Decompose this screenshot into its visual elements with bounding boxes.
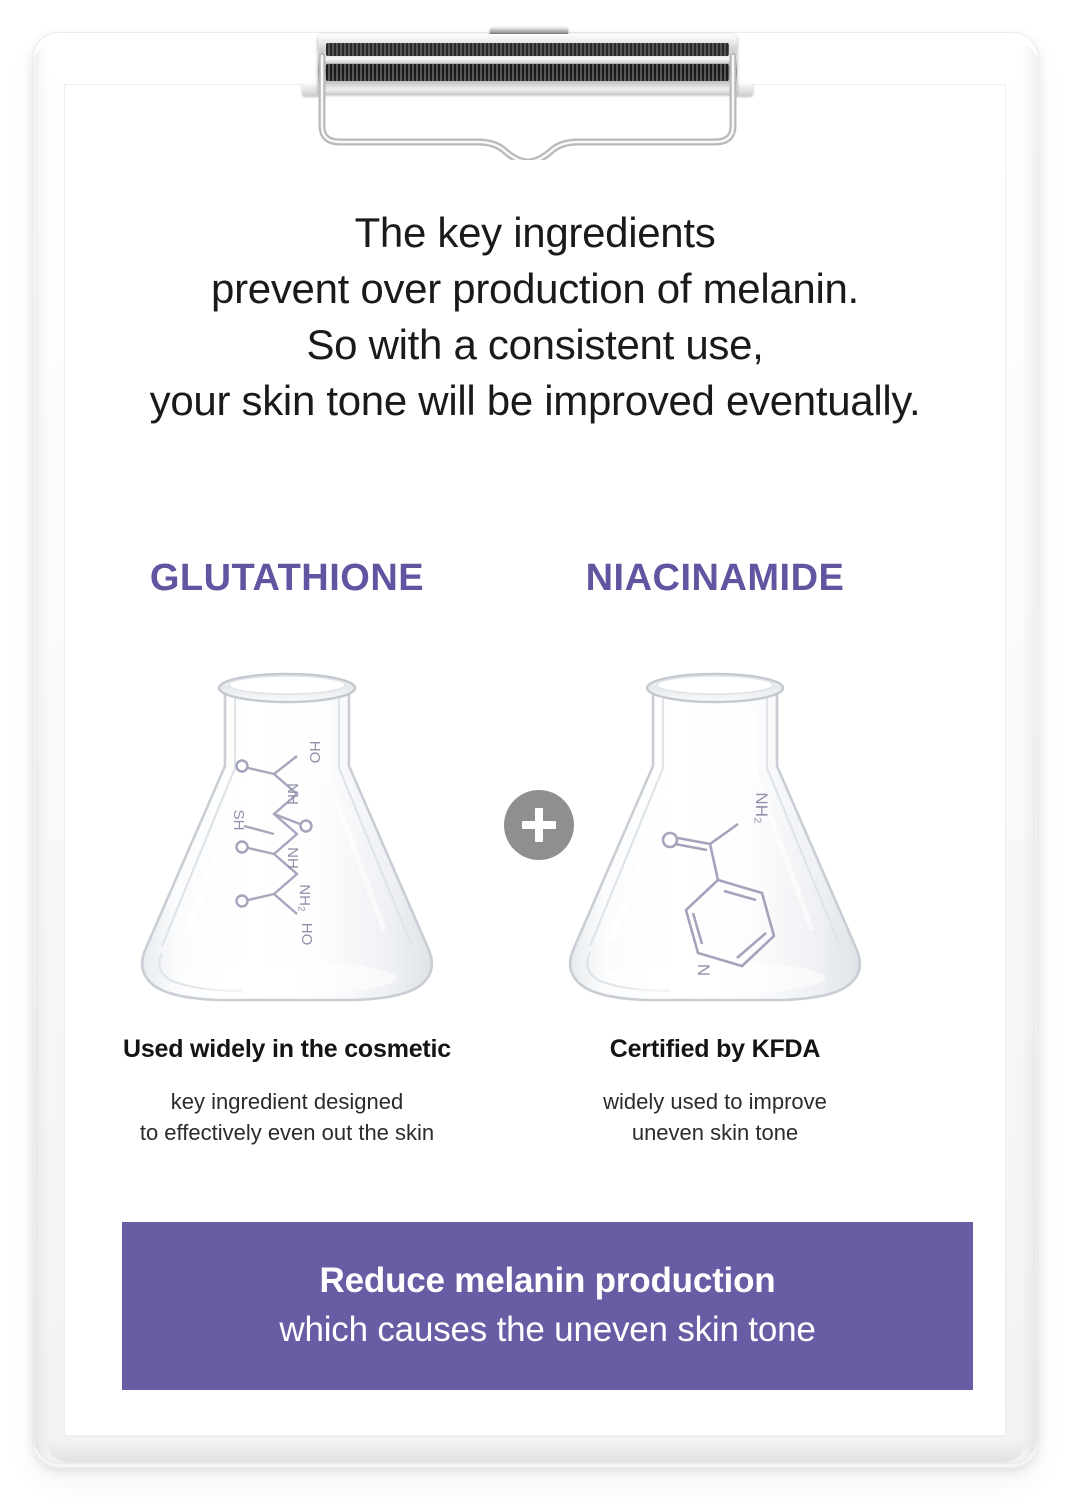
headline-line-1: The key ingredients (65, 205, 1005, 261)
ingredient-card-niacinamide: NIACINAMIDE (515, 556, 915, 1148)
caption-sub-line-1: widely used to improve (515, 1086, 915, 1117)
molecule-label: HO (306, 741, 323, 764)
molecule-label: HO (298, 923, 315, 946)
flask-glutathione: HO NH SH NH NH₂ HO (122, 648, 452, 1008)
molecule-label: NH₂ (752, 792, 771, 823)
caption-sub-line-2: uneven skin tone (515, 1117, 915, 1148)
summary-banner: Reduce melanin production which causes t… (122, 1222, 973, 1390)
molecule-label: NH (284, 783, 301, 805)
headline-line-4: your skin tone will be improved eventual… (65, 373, 1005, 429)
caption-sub-line-2: to effectively even out the skin (87, 1117, 487, 1148)
molecule-label: NH (284, 847, 301, 869)
molecule-label: SH (230, 810, 247, 831)
molecule-label: NH₂ (296, 884, 313, 912)
infographic-canvas: The key ingredients prevent over product… (0, 0, 1071, 1500)
plus-icon (504, 790, 574, 860)
banner-line-1: Reduce melanin production (320, 1257, 776, 1305)
erlenmeyer-flask-icon: HO NH SH NH NH₂ HO (122, 648, 452, 1008)
caption-sub-line-1: key ingredient designed (87, 1086, 487, 1117)
board-edge-right (1022, 46, 1038, 1456)
erlenmeyer-flask-icon: NH₂ N (550, 648, 880, 1008)
board-edge-left (33, 46, 49, 1456)
board-edge-bottom (46, 1440, 1026, 1462)
ingredient-columns: GLUTATHIONE (65, 556, 1005, 1196)
caption-bold-niacinamide: Certified by KFDA (515, 1034, 915, 1064)
ingredient-title-niacinamide: NIACINAMIDE (515, 556, 915, 600)
flask-niacinamide: NH₂ N (550, 648, 880, 1008)
headline-line-3: So with a consistent use, (65, 317, 1005, 373)
molecule-label: N (694, 964, 713, 976)
clip-wire-handle (300, 50, 755, 160)
ingredient-title-glutathione: GLUTATHIONE (87, 556, 487, 600)
plus-glyph (522, 808, 556, 842)
headline-line-2: prevent over production of melanin. (65, 261, 1005, 317)
banner-line-2: which causes the uneven skin tone (279, 1305, 815, 1355)
ingredient-card-glutathione: GLUTATHIONE (87, 556, 487, 1148)
caption-sub-niacinamide: widely used to improve uneven skin tone (515, 1086, 915, 1148)
caption-sub-glutathione: key ingredient designed to effectively e… (87, 1086, 487, 1148)
clipboard-clip (300, 34, 755, 160)
headline: The key ingredients prevent over product… (65, 205, 1005, 429)
caption-bold-glutathione: Used widely in the cosmetic (87, 1034, 487, 1064)
